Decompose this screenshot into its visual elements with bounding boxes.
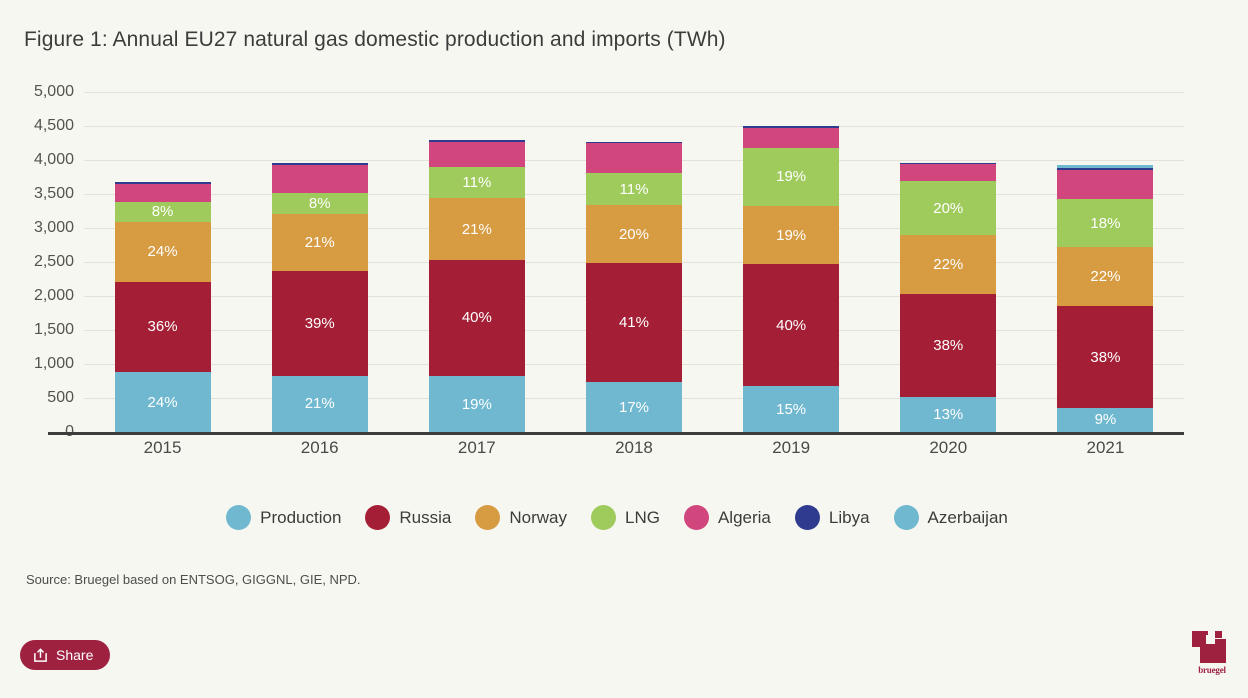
y-axis-tick-label: 3,000	[34, 219, 74, 237]
logo-wordmark: bruegel	[1192, 665, 1232, 675]
legend-item-label: Azerbaijan	[928, 508, 1008, 528]
bar-segment[interactable]: 22%	[900, 235, 996, 294]
legend-item-algeria[interactable]: Algeria	[684, 505, 771, 530]
y-axis-tick-label: 500	[47, 389, 74, 407]
page-title: Figure 1: Annual EU27 natural gas domest…	[24, 28, 726, 52]
legend-item-label: Libya	[829, 508, 870, 528]
bar-segment-label: 24%	[148, 395, 178, 410]
bar-segment[interactable]: 19%	[429, 376, 525, 432]
legend-item-lng[interactable]: LNG	[591, 505, 660, 530]
bar-segment[interactable]: 19%	[743, 148, 839, 206]
bar-segment[interactable]: 36%	[115, 282, 211, 372]
bar-segment-label: 41%	[619, 315, 649, 330]
x-axis-tick-label: 2019	[743, 438, 839, 458]
legend-swatch-icon	[684, 505, 709, 530]
chart-plot-area: 05001,0001,5002,0002,5003,0003,5004,0004…	[24, 92, 1184, 452]
bar-segment-label: 22%	[1090, 269, 1120, 284]
bar-column[interactable]: 20%22%38%13%	[900, 92, 996, 432]
bar-segment[interactable]: 20%	[586, 205, 682, 263]
bar-segment[interactable]: 24%	[115, 372, 211, 432]
bar-segment[interactable]: 39%	[272, 271, 368, 376]
share-button[interactable]: Share	[20, 640, 110, 670]
bar-segment[interactable]: 8%	[272, 193, 368, 214]
bar-segment[interactable]: 20%	[900, 181, 996, 235]
bar-segment[interactable]	[586, 143, 682, 173]
bar-segment-label: 8%	[309, 196, 331, 211]
legend-swatch-icon	[365, 505, 390, 530]
bar-segment[interactable]	[272, 165, 368, 192]
y-axis: 05001,0001,5002,0002,5003,0003,5004,0004…	[24, 92, 84, 432]
bar-segment[interactable]: 19%	[743, 206, 839, 264]
bar-segment[interactable]: 40%	[429, 260, 525, 377]
bruegel-logo[interactable]: bruegel	[1192, 627, 1232, 675]
legend-swatch-icon	[894, 505, 919, 530]
bar-column[interactable]: 19%19%40%15%	[743, 92, 839, 432]
legend-swatch-icon	[475, 505, 500, 530]
bar-segment[interactable]: 38%	[1057, 306, 1153, 408]
bar-segment[interactable]: 21%	[272, 376, 368, 432]
bar-segment-label: 9%	[1095, 412, 1117, 427]
legend-swatch-icon	[226, 505, 251, 530]
bar-segment-label: 17%	[619, 400, 649, 415]
bar-segment-label: 39%	[305, 316, 335, 331]
logo-shape-dot	[1215, 631, 1222, 638]
bar-segment[interactable]: 38%	[900, 294, 996, 396]
legend-item-azerbaijan[interactable]: Azerbaijan	[894, 505, 1008, 530]
x-axis: 2015201620172018201920202021	[84, 438, 1184, 458]
bar-segment-label: 15%	[776, 402, 806, 417]
y-axis-tick-label: 2,000	[34, 287, 74, 305]
legend-swatch-icon	[591, 505, 616, 530]
bar-segment-label: 11%	[620, 182, 649, 197]
share-button-label: Share	[56, 647, 93, 663]
y-axis-tick-label: 4,000	[34, 151, 74, 169]
y-axis-tick-label: 3,500	[34, 185, 74, 203]
legend-item-label: Norway	[509, 508, 567, 528]
bar-segment-label: 19%	[462, 397, 492, 412]
bar-segment[interactable]: 17%	[586, 382, 682, 432]
bar-segment-label: 8%	[152, 204, 174, 219]
bar-segment[interactable]: 11%	[586, 173, 682, 205]
legend-item-libya[interactable]: Libya	[795, 505, 870, 530]
bar-segment[interactable]: 21%	[272, 214, 368, 270]
legend-swatch-icon	[795, 505, 820, 530]
bar-segment[interactable]: 21%	[429, 198, 525, 259]
bar-segment[interactable]: 13%	[900, 397, 996, 432]
bar-segment[interactable]	[743, 128, 839, 148]
bar-segment[interactable]	[429, 142, 525, 166]
bar-segment[interactable]: 15%	[743, 386, 839, 432]
legend-item-production[interactable]: Production	[226, 505, 341, 530]
logo-shape-notch	[1206, 635, 1215, 644]
legend-item-label: LNG	[625, 508, 660, 528]
bar-segment-label: 40%	[462, 310, 492, 325]
x-axis-tick-label: 2017	[429, 438, 525, 458]
bar-segment[interactable]: 24%	[115, 222, 211, 282]
bar-segment-label: 11%	[462, 175, 491, 190]
bar-segment-label: 24%	[148, 244, 178, 259]
y-axis-tick-label: 5,000	[34, 83, 74, 101]
legend-item-norway[interactable]: Norway	[475, 505, 567, 530]
legend-item-label: Production	[260, 508, 341, 528]
bar-segment-label: 20%	[619, 227, 649, 242]
bar-group: 8%24%36%24%8%21%39%21%11%21%40%19%11%20%…	[84, 92, 1184, 432]
bar-segment[interactable]: 22%	[1057, 247, 1153, 306]
bar-segment-label: 21%	[305, 235, 335, 250]
y-axis-tick-label: 1,000	[34, 355, 74, 373]
source-note: Source: Bruegel based on ENTSOG, GIGGNL,…	[26, 572, 361, 587]
bar-segment-label: 38%	[933, 338, 963, 353]
legend-item-label: Russia	[399, 508, 451, 528]
bar-segment-label: 20%	[933, 201, 963, 216]
bar-segment[interactable]	[115, 184, 211, 202]
bar-segment[interactable]: 9%	[1057, 408, 1153, 432]
x-axis-tick-label: 2018	[586, 438, 682, 458]
bar-segment[interactable]	[1057, 170, 1153, 200]
y-axis-tick-label: 4,500	[34, 117, 74, 135]
bar-segment-label: 38%	[1090, 350, 1120, 365]
bar-segment-label: 13%	[933, 407, 963, 422]
bar-segment-label: 36%	[148, 319, 178, 334]
chart-legend: ProductionRussiaNorwayLNGAlgeriaLibyaAze…	[0, 505, 1248, 530]
bar-segment-label: 19%	[776, 169, 806, 184]
bar-segment-label: 21%	[462, 222, 492, 237]
legend-item-label: Algeria	[718, 508, 771, 528]
bar-column[interactable]: 18%22%38%9%	[1057, 92, 1153, 432]
y-axis-tick-label: 1,500	[34, 321, 74, 339]
bar-segment-label: 19%	[776, 228, 806, 243]
bar-segment-label: 18%	[1090, 216, 1120, 231]
share-icon	[33, 648, 48, 663]
bar-segment-label: 21%	[305, 396, 335, 411]
bar-segment[interactable]	[900, 164, 996, 182]
x-axis-tick-label: 2021	[1057, 438, 1153, 458]
bar-column[interactable]: 11%20%41%17%	[586, 92, 682, 432]
x-axis-tick-label: 2016	[272, 438, 368, 458]
x-axis-tick-label: 2015	[115, 438, 211, 458]
bar-column[interactable]: 8%21%39%21%	[272, 92, 368, 432]
x-axis-line	[48, 432, 1184, 435]
bar-column[interactable]: 8%24%36%24%	[115, 92, 211, 432]
y-axis-tick-label: 2,500	[34, 253, 74, 271]
x-axis-tick-label: 2020	[900, 438, 996, 458]
bar-segment-label: 22%	[933, 257, 963, 272]
bar-segment[interactable]: 40%	[743, 264, 839, 386]
bar-segment[interactable]: 41%	[586, 263, 682, 382]
bar-segment[interactable]: 8%	[115, 202, 211, 222]
bar-segment[interactable]: 18%	[1057, 199, 1153, 247]
bar-segment-label: 40%	[776, 318, 806, 333]
bar-column[interactable]: 11%21%40%19%	[429, 92, 525, 432]
legend-item-russia[interactable]: Russia	[365, 505, 451, 530]
bar-segment[interactable]: 11%	[429, 167, 525, 199]
